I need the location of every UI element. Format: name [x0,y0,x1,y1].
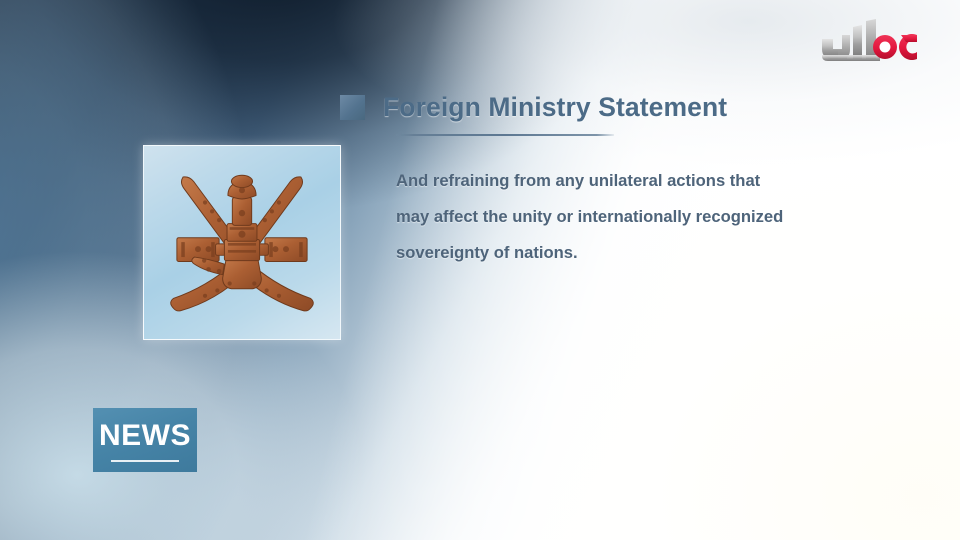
statement-line-1: And refraining from any unilateral actio… [396,163,866,199]
news-badge-label: NEWS [99,421,191,451]
jbc-logo-icon [818,18,922,66]
headline-row: Foreign Ministry Statement [340,92,727,123]
oman-emblem-icon [154,155,330,331]
statement-line-2: may affect the unity or internationally … [396,199,866,235]
statement-line-3: sovereignty of nations. [396,235,866,271]
square-bullet-icon [340,95,365,120]
statement-body: And refraining from any unilateral actio… [396,163,866,271]
news-badge-underline [111,460,179,462]
broadcast-graphic-frame: Foreign Ministry Statement And refrainin… [0,0,960,540]
page-title: Foreign Ministry Statement [383,92,727,123]
headline-divider [396,134,614,136]
emblem-panel [143,145,341,340]
network-logo [818,18,922,66]
news-badge: NEWS [93,408,197,472]
